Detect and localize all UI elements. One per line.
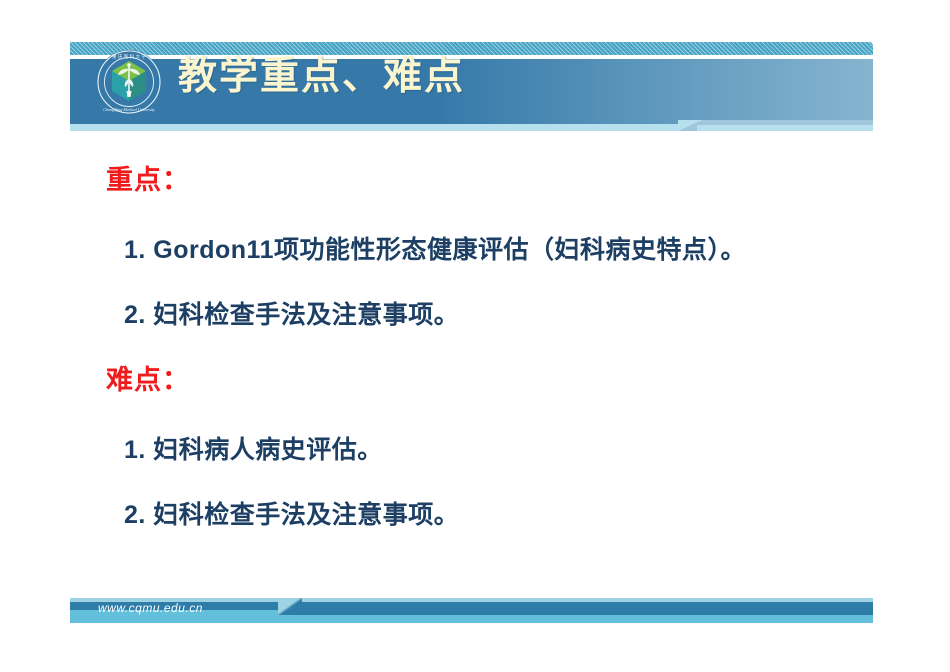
page-title: 教学重点、难点 (178, 47, 465, 107)
section-heading-key-points: 重点： (106, 158, 190, 197)
header-underline-primary (70, 124, 686, 131)
list-item: 2. 妇科检查手法及注意事项。 (124, 495, 459, 531)
section-heading-difficult-points: 难点： (106, 358, 190, 397)
slide-footer: www.cqmu.edu.cn (70, 598, 873, 624)
list-item: 1. 妇科病人病史评估。 (124, 430, 383, 466)
list-item: 1. Gordon11项功能性形态健康评估（妇科病史特点）。 (124, 230, 746, 266)
svg-text:ChongQing Medical University: ChongQing Medical University (103, 107, 155, 112)
footer-diagonal-notch (278, 598, 302, 615)
slide-canvas: 重 庆 医 科 大 学 ChongQing Medical University (0, 0, 950, 672)
header-underline-right (697, 125, 873, 131)
list-item: 2. 妇科检查手法及注意事项。 (124, 295, 459, 331)
svg-text:重 庆 医 科 大 学: 重 庆 医 科 大 学 (112, 53, 146, 60)
footer-url[interactable]: www.cqmu.edu.cn (98, 600, 203, 617)
slide-header: 重 庆 医 科 大 学 ChongQing Medical University (70, 42, 873, 134)
university-seal-icon: 重 庆 医 科 大 学 ChongQing Medical University (96, 49, 162, 115)
